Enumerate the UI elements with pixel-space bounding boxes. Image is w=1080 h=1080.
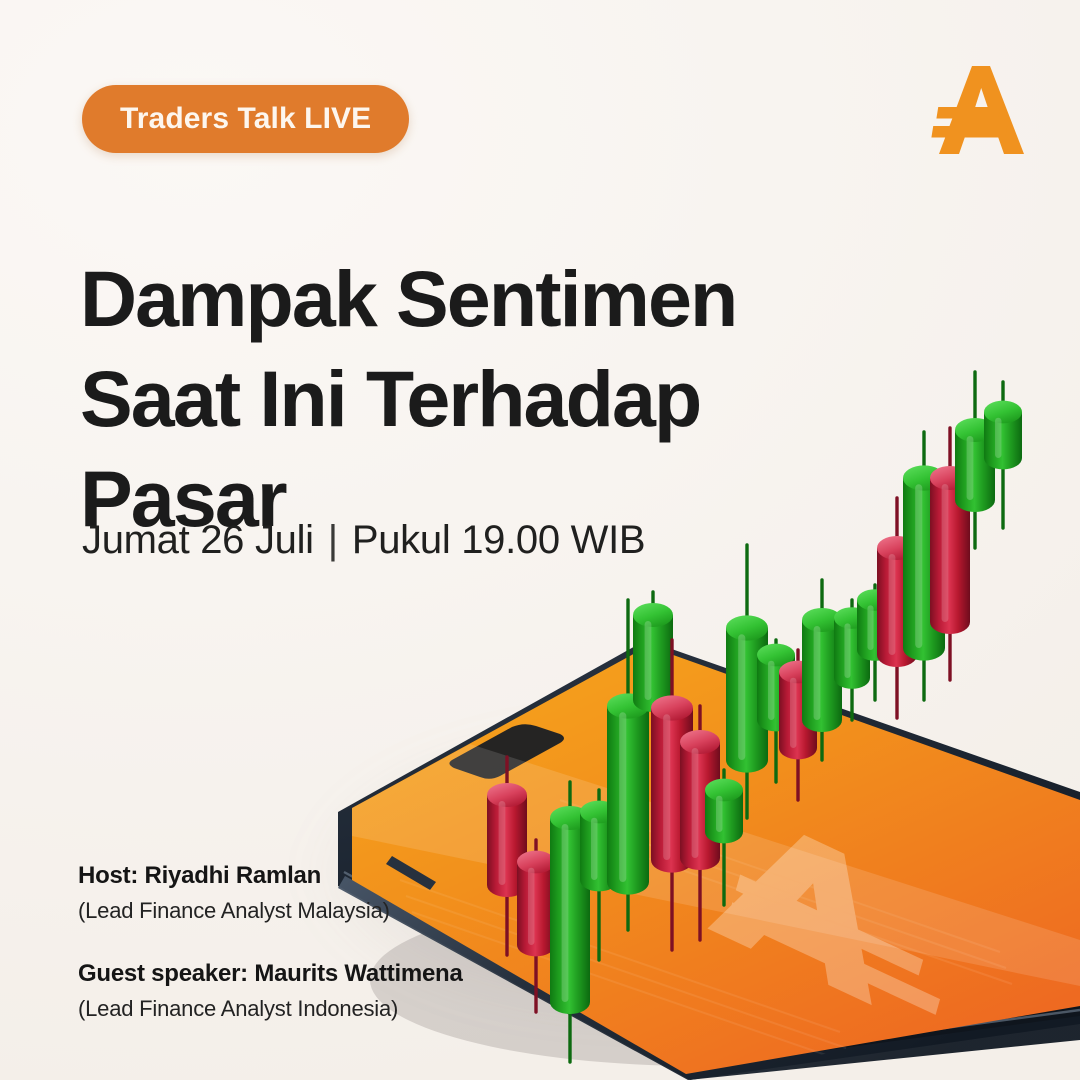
brand-logo: [928, 58, 1032, 162]
page-title: Dampak Sentimen Saat Ini Terhadap Pasar: [80, 249, 800, 549]
promo-poster: Traders Talk LIVE Dampak Sentimen Saat I…: [0, 0, 1080, 1080]
letter-a-currency-logo: [928, 58, 1032, 162]
live-badge: Traders Talk LIVE: [82, 85, 409, 153]
host-role: (Lead Finance Analyst Malaysia): [78, 897, 598, 925]
guest-name: Guest speaker: Maurits Wattimena: [78, 959, 598, 989]
host-name: Host: Riyadhi Ramlan: [78, 861, 598, 891]
live-badge-label: Traders Talk LIVE: [120, 102, 371, 136]
guest-role: (Lead Finance Analyst Indonesia): [78, 995, 598, 1023]
headline-line-1: Dampak Sentimen: [80, 249, 800, 349]
datetime-separator: |: [328, 518, 338, 563]
headline-line-2: Saat Ini Terhadap: [80, 349, 800, 449]
event-date: Jumat 26 Juli: [82, 518, 314, 563]
event-datetime: Jumat 26 Juli | Pukul 19.00 WIB: [82, 518, 645, 563]
speaker-credits: Host: Riyadhi Ramlan (Lead Finance Analy…: [78, 861, 598, 1022]
event-time: Pukul 19.00 WIB: [352, 518, 645, 563]
credit-guest: Guest speaker: Maurits Wattimena (Lead F…: [78, 959, 598, 1023]
credit-host: Host: Riyadhi Ramlan (Lead Finance Analy…: [78, 861, 598, 925]
